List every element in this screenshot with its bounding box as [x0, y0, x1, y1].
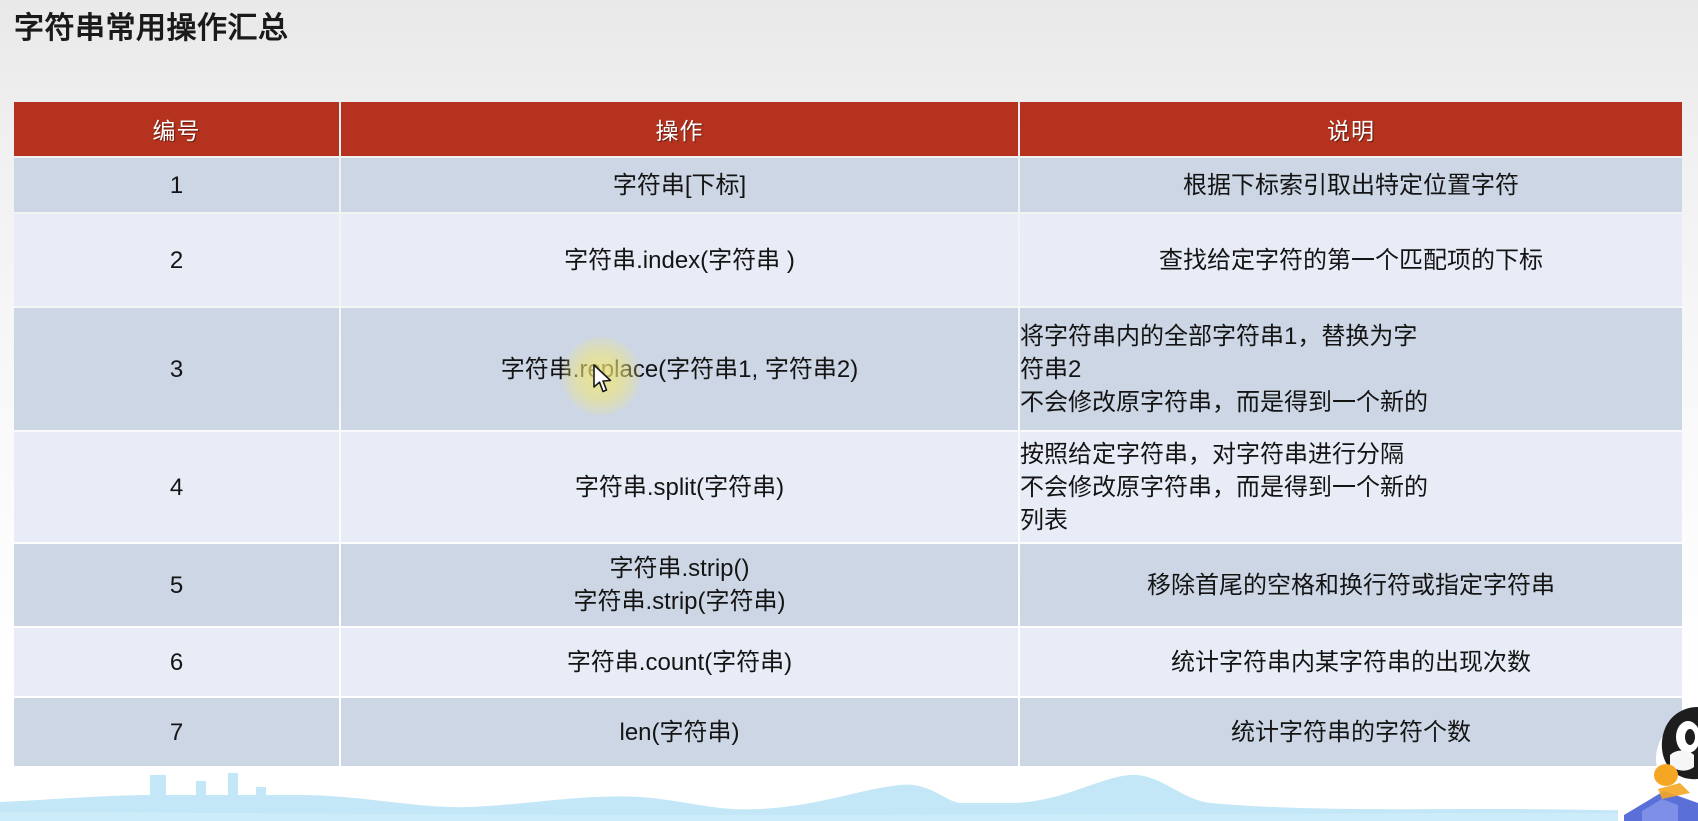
qq-penguin-avatar: [1618, 693, 1698, 821]
cell-num: 1: [14, 158, 339, 212]
table-row: 4 字符串.split(字符串) 按照给定字符串，对字符串进行分隔 不会修改原字…: [14, 432, 1682, 542]
cell-operation: 字符串.strip() 字符串.strip(字符串): [341, 544, 1018, 626]
cell-num: 3: [14, 308, 339, 430]
table-row: 7 len(字符串) 统计字符串的字符个数: [14, 698, 1682, 766]
cell-operation: 字符串.index(字符串 ): [341, 214, 1018, 306]
table-row: 5 字符串.strip() 字符串.strip(字符串) 移除首尾的空格和换行符…: [14, 544, 1682, 626]
cell-operation: 字符串.split(字符串): [341, 432, 1018, 542]
cell-num: 5: [14, 544, 339, 626]
title-bar: 字符串常用操作汇总: [0, 0, 1698, 58]
table-row: 1 字符串[下标] 根据下标索引取出特定位置字符: [14, 158, 1682, 212]
string-operations-table: 编号 操作 说明 1 字符串[下标] 根据下标索引取出特定位置字符 2 字符串.…: [12, 100, 1684, 768]
cell-description: 查找给定字符的第一个匹配项的下标: [1020, 214, 1682, 306]
cell-operation: len(字符串): [341, 698, 1018, 766]
cell-num: 6: [14, 628, 339, 696]
cell-description: 根据下标索引取出特定位置字符: [1020, 158, 1682, 212]
slide-canvas: 字符串常用操作汇总 编号 操作 说明 1 字符串[下标] 根据下标索引取出特定位…: [0, 0, 1698, 821]
cell-num: 7: [14, 698, 339, 766]
cell-num: 4: [14, 432, 339, 542]
column-header-description: 说明: [1020, 102, 1682, 156]
cell-operation: 字符串.count(字符串): [341, 628, 1018, 696]
table-row: 3 字符串.replace(字符串1, 字符串2) 将字符串内的全部字符串1，替…: [14, 308, 1682, 430]
cell-operation: 字符串[下标]: [341, 158, 1018, 212]
cell-description: 按照给定字符串，对字符串进行分隔 不会修改原字符串，而是得到一个新的 列表: [1020, 432, 1682, 542]
column-header-num: 编号: [14, 102, 339, 156]
cell-description: 将字符串内的全部字符串1，替换为字 符串2 不会修改原字符串，而是得到一个新的: [1020, 308, 1682, 430]
column-header-operation: 操作: [341, 102, 1018, 156]
table-row: 2 字符串.index(字符串 ) 查找给定字符的第一个匹配项的下标: [14, 214, 1682, 306]
cell-description: 统计字符串内某字符串的出现次数: [1020, 628, 1682, 696]
table-body: 1 字符串[下标] 根据下标索引取出特定位置字符 2 字符串.index(字符串…: [14, 158, 1682, 766]
cell-description: 统计字符串的字符个数: [1020, 698, 1682, 766]
table-row: 6 字符串.count(字符串) 统计字符串内某字符串的出现次数: [14, 628, 1682, 696]
cell-operation: 字符串.replace(字符串1, 字符串2): [341, 308, 1018, 430]
cell-description: 移除首尾的空格和换行符或指定字符串: [1020, 544, 1682, 626]
cell-num: 2: [14, 214, 339, 306]
page-title: 字符串常用操作汇总: [14, 12, 289, 46]
table-header-row: 编号 操作 说明: [14, 102, 1682, 156]
table-header: 编号 操作 说明: [14, 102, 1682, 156]
